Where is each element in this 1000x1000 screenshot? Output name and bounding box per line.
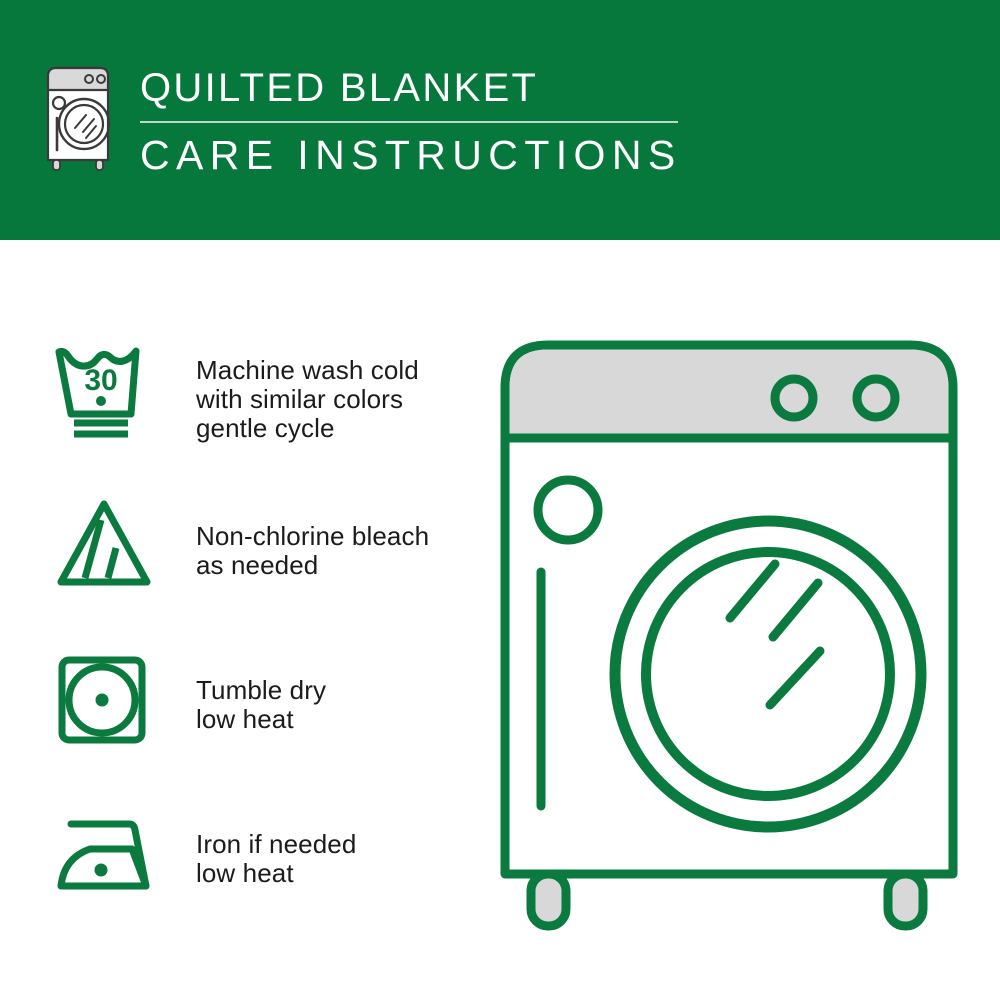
bleach-triangle-icon [52,492,160,600]
washing-machine-icon [42,62,114,172]
wash-basin-30-icon: 30 [52,338,160,446]
page-subtitle: CARE INSTRUCTIONS [140,132,682,178]
page-title: QUILTED BLANKET [140,66,682,110]
care-instruction-list: 30 Machine wash cold with similar colors… [52,338,472,954]
svg-text:30: 30 [84,364,117,397]
header-band: QUILTED BLANKET CARE INSTRUCTIONS [0,0,1000,240]
care-item-bleach: Non-chlorine bleach as needed [52,492,472,602]
care-item-label: Tumble dry low heat [196,646,326,734]
care-item-label: Non-chlorine bleach as needed [196,492,429,580]
header-content: QUILTED BLANKET CARE INSTRUCTIONS [42,62,682,178]
care-item-label: Iron if needed low heat [196,800,356,888]
header-title-group: QUILTED BLANKET CARE INSTRUCTIONS [140,62,682,178]
care-item-tumble-dry: Tumble dry low heat [52,646,472,756]
care-item-wash: 30 Machine wash cold with similar colors… [52,338,472,448]
tumble-dry-icon [52,646,160,754]
washing-machine-illustration [498,336,960,936]
title-divider [140,121,678,123]
care-item-iron: Iron if needed low heat [52,800,472,910]
care-instructions-infographic: QUILTED BLANKET CARE INSTRUCTIONS 30 [0,0,1000,1000]
care-item-label: Machine wash cold with similar colors ge… [196,338,419,443]
iron-icon [52,800,160,908]
